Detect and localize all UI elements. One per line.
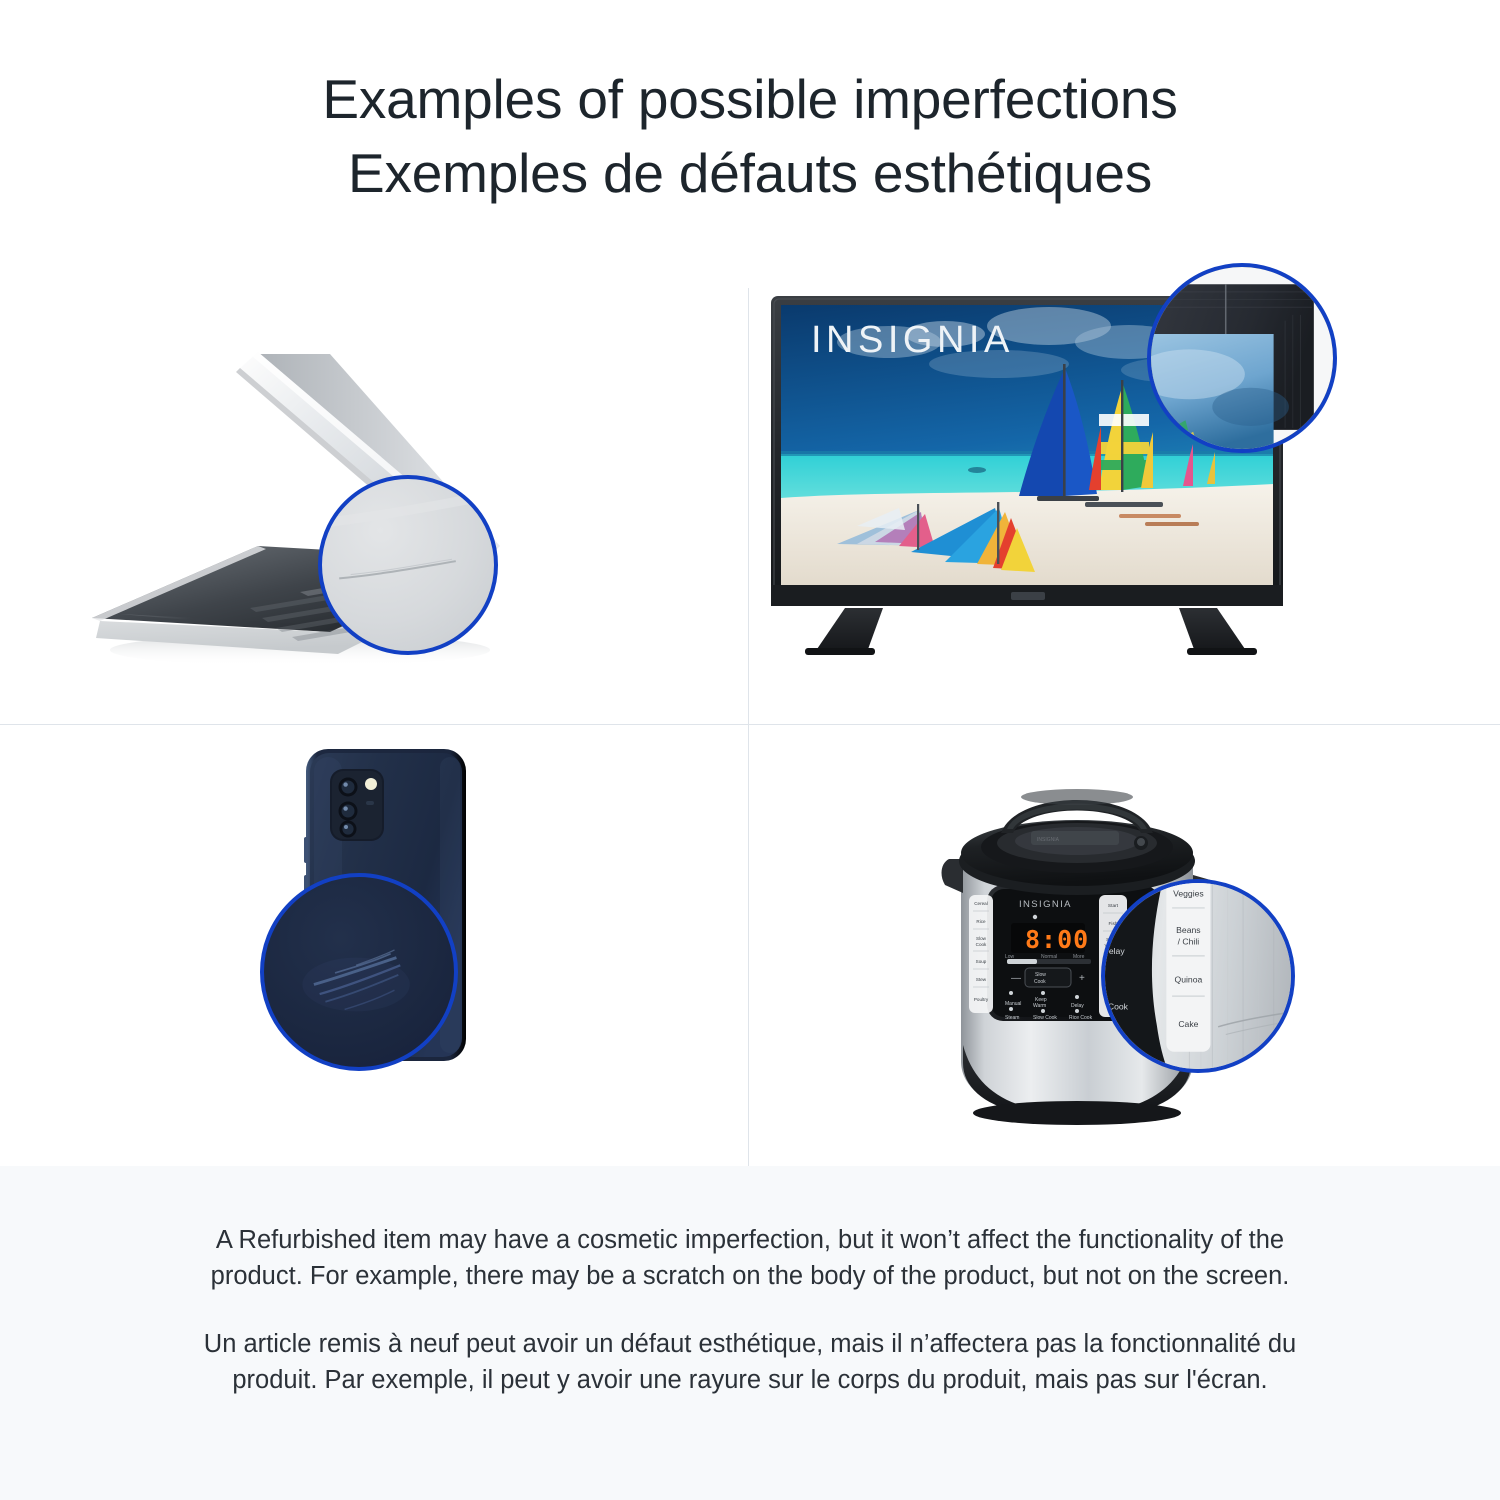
cell-pressure-cooker: INSIGNIA 8:00 Low Normal More Slow Cook …	[749, 725, 1500, 1166]
svg-text:Cook: Cook	[1034, 979, 1046, 985]
phone-volume-button	[304, 837, 308, 863]
product-examples-grid: INSIGNIA	[0, 246, 1500, 1166]
svg-text:Warm: Warm	[1033, 1003, 1046, 1009]
svg-text:Beans: Beans	[1176, 925, 1200, 935]
svg-text:Low: Low	[1005, 954, 1015, 960]
description-french: Un article remis à neuf peut avoir un dé…	[190, 1326, 1310, 1398]
svg-text:+: +	[1079, 973, 1085, 984]
magnifier-television	[1147, 263, 1337, 453]
phone-camera-flash	[365, 778, 377, 790]
svg-text:Manual: Manual	[1005, 1001, 1021, 1007]
svg-text:Rice: Rice	[976, 919, 986, 924]
svg-text:—: —	[1011, 973, 1021, 984]
svg-text:Slow Cook: Slow Cook	[1033, 1015, 1057, 1021]
television-illustration: INSIGNIA	[749, 246, 1500, 724]
svg-text:Poultry: Poultry	[974, 997, 989, 1002]
cooker-foot	[973, 1101, 1181, 1125]
page-title-english: Examples of possible imperfections	[0, 62, 1500, 136]
svg-text:w Cook: w Cook	[1105, 1002, 1129, 1012]
cell-smartphone	[0, 725, 748, 1166]
phone-camera-module	[330, 769, 384, 841]
cooker-panel-buttons-left: Cereal Rice Slow Cook Soup Stew Poultry	[969, 895, 993, 1013]
page-title-french: Exemples de défauts esthétiques	[0, 136, 1500, 210]
cooker-led-display: 8:00	[1025, 925, 1089, 954]
svg-text:elay: elay	[1109, 946, 1125, 956]
page-title: Examples of possible imperfections Exemp…	[0, 62, 1500, 210]
tv-stand	[805, 608, 1257, 655]
magnifier-smartphone	[260, 873, 458, 1071]
magnified-phone-scratches	[264, 877, 454, 1067]
magnifier-pressure-cooker: Veggies Beans / Chili Quinoa Cake elay w…	[1101, 879, 1295, 1073]
svg-text:Soup: Soup	[976, 959, 987, 964]
svg-text:Cereal: Cereal	[974, 901, 988, 906]
svg-text:Delay: Delay	[1071, 1003, 1084, 1009]
svg-text:Cake: Cake	[1178, 1019, 1198, 1029]
svg-text:Rice Cook: Rice Cook	[1069, 1015, 1093, 1021]
svg-text:INSIGNIA: INSIGNIA	[1037, 837, 1060, 843]
svg-text:Stew: Stew	[976, 977, 987, 982]
cooker-lid-label: INSIGNIA	[1031, 831, 1119, 845]
cell-laptop	[0, 246, 748, 724]
description-panel: A Refurbished item may have a cosmetic i…	[0, 1166, 1500, 1500]
svg-text:More: More	[1073, 954, 1085, 960]
svg-text:Start: Start	[1108, 903, 1119, 909]
description-english: A Refurbished item may have a cosmetic i…	[190, 1222, 1310, 1294]
tv-screen-brand-logo: INSIGNIA	[811, 319, 1014, 361]
svg-text:Quinoa: Quinoa	[1175, 975, 1203, 985]
magnified-tv-bezel-corner	[1151, 267, 1333, 449]
imperfections-infographic: Examples of possible imperfections Exemp…	[0, 0, 1500, 1500]
svg-text:Slow: Slow	[1035, 972, 1046, 978]
svg-text:Slow: Slow	[976, 936, 987, 941]
svg-text:Cook: Cook	[976, 942, 987, 947]
magnified-cooker-scratch: Veggies Beans / Chili Quinoa Cake elay w…	[1105, 883, 1291, 1069]
svg-text:Veggies: Veggies	[1173, 888, 1204, 898]
magnifier-laptop	[318, 475, 498, 655]
svg-text:/ Chili: / Chili	[1178, 936, 1200, 946]
cell-television: INSIGNIA	[749, 246, 1500, 724]
svg-text:Steam: Steam	[1005, 1015, 1019, 1021]
magnified-laptop-scratch	[322, 479, 494, 651]
cooker-brand-label: INSIGNIA	[1019, 899, 1072, 910]
svg-text:Normal: Normal	[1041, 954, 1057, 960]
